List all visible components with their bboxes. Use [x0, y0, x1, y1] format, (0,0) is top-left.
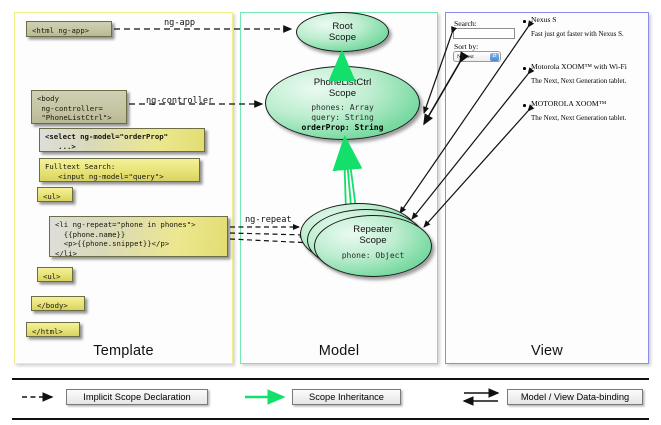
scope-phonelistctrl-props: phones: Array query: String orderProp: S… — [266, 103, 419, 133]
view-phone-snippet: Fast just got faster with Nexus S. — [531, 30, 624, 38]
view-sort-select[interactable]: Newest ⇵ — [453, 51, 501, 62]
panel-model: Model — [240, 12, 438, 364]
scope-phonelistctrl: PhoneListCtrlScope phones: Array query: … — [265, 66, 420, 140]
prop-orderprop: orderProp: String — [266, 123, 419, 133]
scope-repeater-title: RepeaterScope — [315, 225, 431, 246]
view-search-label: Search: — [454, 19, 477, 28]
view-phone-snippet: The Next, Next Generation tablet. — [531, 77, 626, 85]
view-phone-name: Motorola XOOM™ with Wi-Fi — [531, 62, 627, 71]
scope-repeater-props: phone: Object — [315, 251, 431, 261]
code-box-ul-open: <ul> — [37, 187, 73, 202]
angular-scope-diagram: Template Model View <html ng-app> <body … — [0, 0, 661, 425]
prop-query: query: String — [266, 113, 419, 123]
legend-item-implicit-scope-declaration: Implicit Scope Declaration — [66, 389, 208, 405]
code-box-html-close: </html> — [26, 322, 80, 337]
edge-label-ng-controller: ng-controller — [146, 96, 213, 106]
panel-view-label: View — [446, 343, 648, 359]
edge-label-ng-repeat: ng-repeat — [245, 215, 292, 225]
code-box-li-repeat: <li ng-repeat="phone in phones"> {{phone… — [49, 216, 228, 257]
prop-phones: phones: Array — [266, 103, 419, 113]
legend-top-rule — [12, 378, 649, 380]
scope-root: RootScope — [296, 12, 389, 52]
scope-phonelistctrl-title: PhoneListCtrlScope — [266, 78, 419, 99]
legend-item-model-view-data-binding: Model / View Data-binding — [507, 389, 643, 405]
view-search-input[interactable] — [453, 28, 515, 39]
code-box-body-tag: <body ng-controller= "PhoneListCtrl"> — [31, 90, 127, 124]
prop-phone: phone: Object — [315, 251, 431, 261]
edge-label-ng-app: ng-app — [164, 18, 195, 28]
legend-bottom-rule — [12, 418, 649, 420]
legend-glyph-double-arrow — [464, 393, 498, 401]
view-sort-label: Sort by: — [454, 42, 478, 51]
view-phone-name: Nexus S — [531, 15, 557, 24]
code-box-html-tag: <html ng-app> — [26, 21, 112, 37]
code-box-fulltext-search: Fulltext Search: <input ng-model="query"… — [39, 158, 200, 182]
code-box-body-close: </body> — [31, 296, 85, 311]
scope-repeater: RepeaterScope phone: Object — [314, 215, 432, 277]
chevron-updown-icon[interactable]: ⇵ — [490, 53, 499, 61]
code-box-select-tag: <select ng-model="orderProp" ...> — [39, 128, 205, 152]
panel-model-label: Model — [241, 343, 437, 359]
legend-item-scope-inheritance: Scope Inheritance — [292, 389, 401, 405]
view-phone-snippet: The Next, Next Generation tablet. — [531, 114, 626, 122]
view-sort-selected-value: Newest — [457, 54, 474, 60]
list-bullet — [523, 67, 526, 70]
scope-root-title: RootScope — [297, 22, 388, 43]
view-phone-name: MOTOROLA XOOM™ — [531, 99, 606, 108]
list-bullet — [523, 20, 526, 23]
panel-template-label: Template — [15, 343, 232, 359]
list-bullet — [523, 104, 526, 107]
code-box-ul-close: <ul> — [37, 267, 73, 282]
